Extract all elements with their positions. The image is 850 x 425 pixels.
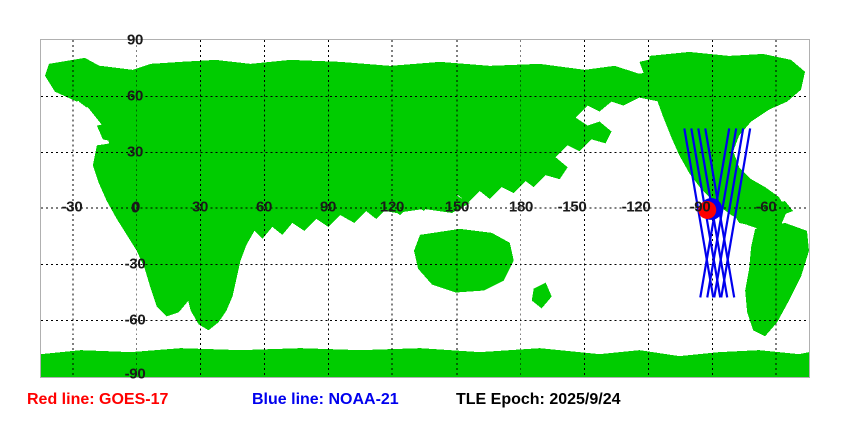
lat-tick--30: -30 <box>125 257 146 272</box>
lon-tick--120: -120 <box>622 200 651 215</box>
legend-goes17: Red line: GOES-17 <box>27 392 168 408</box>
lon-tick-120: 120 <box>380 200 404 215</box>
lat-tick-60: 60 <box>127 89 143 104</box>
satellite-track-map-page: -30 0 30 60 90 120 150 180 -150 -120 -90… <box>0 0 850 425</box>
new-zealand-landmass <box>532 283 552 309</box>
lon-tick--150: -150 <box>558 200 587 215</box>
lon-tick--60: -60 <box>756 200 777 215</box>
lon-tick-150: 150 <box>445 200 469 215</box>
lon-tick-90: 90 <box>320 200 336 215</box>
lat-tick-0: 0 <box>131 201 139 216</box>
legend-noaa21: Blue line: NOAA-21 <box>252 392 399 408</box>
lat-tick--60: -60 <box>125 313 146 328</box>
lon-tick--90: -90 <box>690 200 711 215</box>
lon-tick--30: -30 <box>62 200 83 215</box>
lon-tick-60: 60 <box>256 200 272 215</box>
lat-tick-90: 90 <box>127 33 143 48</box>
legend-tle-epoch: TLE Epoch: 2025/9/24 <box>456 392 621 408</box>
south-america-landmass <box>745 223 809 336</box>
lat-tick--90: -90 <box>125 367 146 382</box>
lon-tick-30: 30 <box>192 200 208 215</box>
antarctica-landmass <box>41 348 809 377</box>
map-legend: Red line: GOES-17 Blue line: NOAA-21 TLE… <box>0 392 850 425</box>
lon-tick-180: 180 <box>509 200 533 215</box>
lat-tick-30: 30 <box>127 145 143 160</box>
australia-landmass <box>414 229 514 293</box>
